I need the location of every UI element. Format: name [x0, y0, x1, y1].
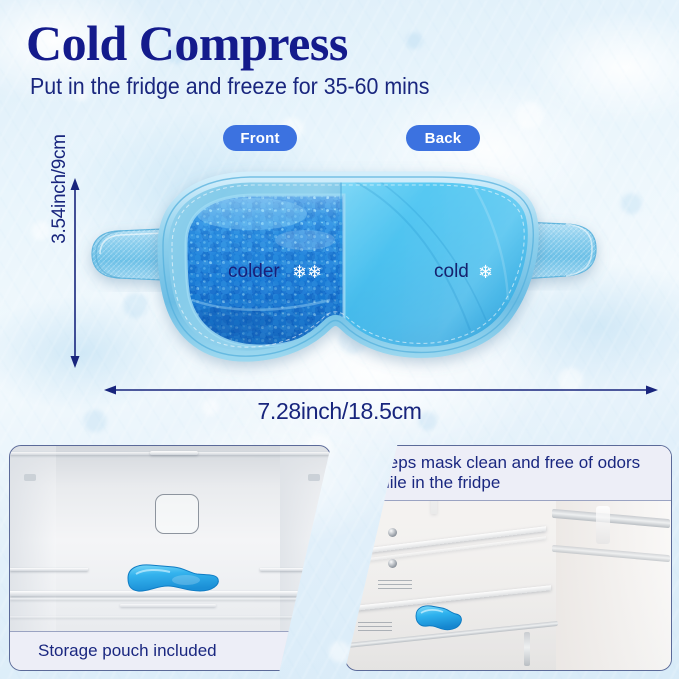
fridge-shelf-knob-b: [388, 559, 397, 568]
dimension-label-width: 7.28inch/18.5cm: [0, 398, 679, 425]
fridge-shelf-left-rail: [10, 568, 88, 571]
dimension-label-height: 3.54inch/9cm: [49, 101, 71, 277]
fridge-shelf-reflection: [120, 604, 216, 607]
photo-panel-fridge: Keeps mask clean and free of odors while…: [345, 445, 672, 671]
fridge-vent-grille-upper: [378, 580, 412, 589]
fridge-door-bottle-slot: [596, 506, 610, 544]
infographic-root: Cold Compress Put in the fridge and free…: [0, 0, 679, 679]
fridge-clip-left: [24, 474, 36, 481]
mini-eye-mask-right: [412, 602, 464, 634]
fridge-shelf-leg: [524, 632, 530, 666]
fridge-light-strip: [150, 451, 198, 455]
mini-eye-mask-left: [120, 560, 224, 596]
fridge-vent-grille-lower: [358, 622, 392, 631]
fridge-lower-divider: [10, 616, 330, 618]
badge-front: Front: [223, 125, 297, 151]
dimension-label-height-wrap: 3.54inch/9cm: [0, 0, 100, 200]
fridge-shelf-knob-a: [388, 528, 397, 537]
fridge-vent-panel: [155, 494, 199, 534]
fridge-clip-right: [308, 474, 320, 481]
photo-panel-storage-pouch: Storage pouch included: [9, 445, 331, 671]
badge-back: Back: [406, 125, 480, 151]
fridge-shelf-main-edge: [10, 598, 330, 600]
